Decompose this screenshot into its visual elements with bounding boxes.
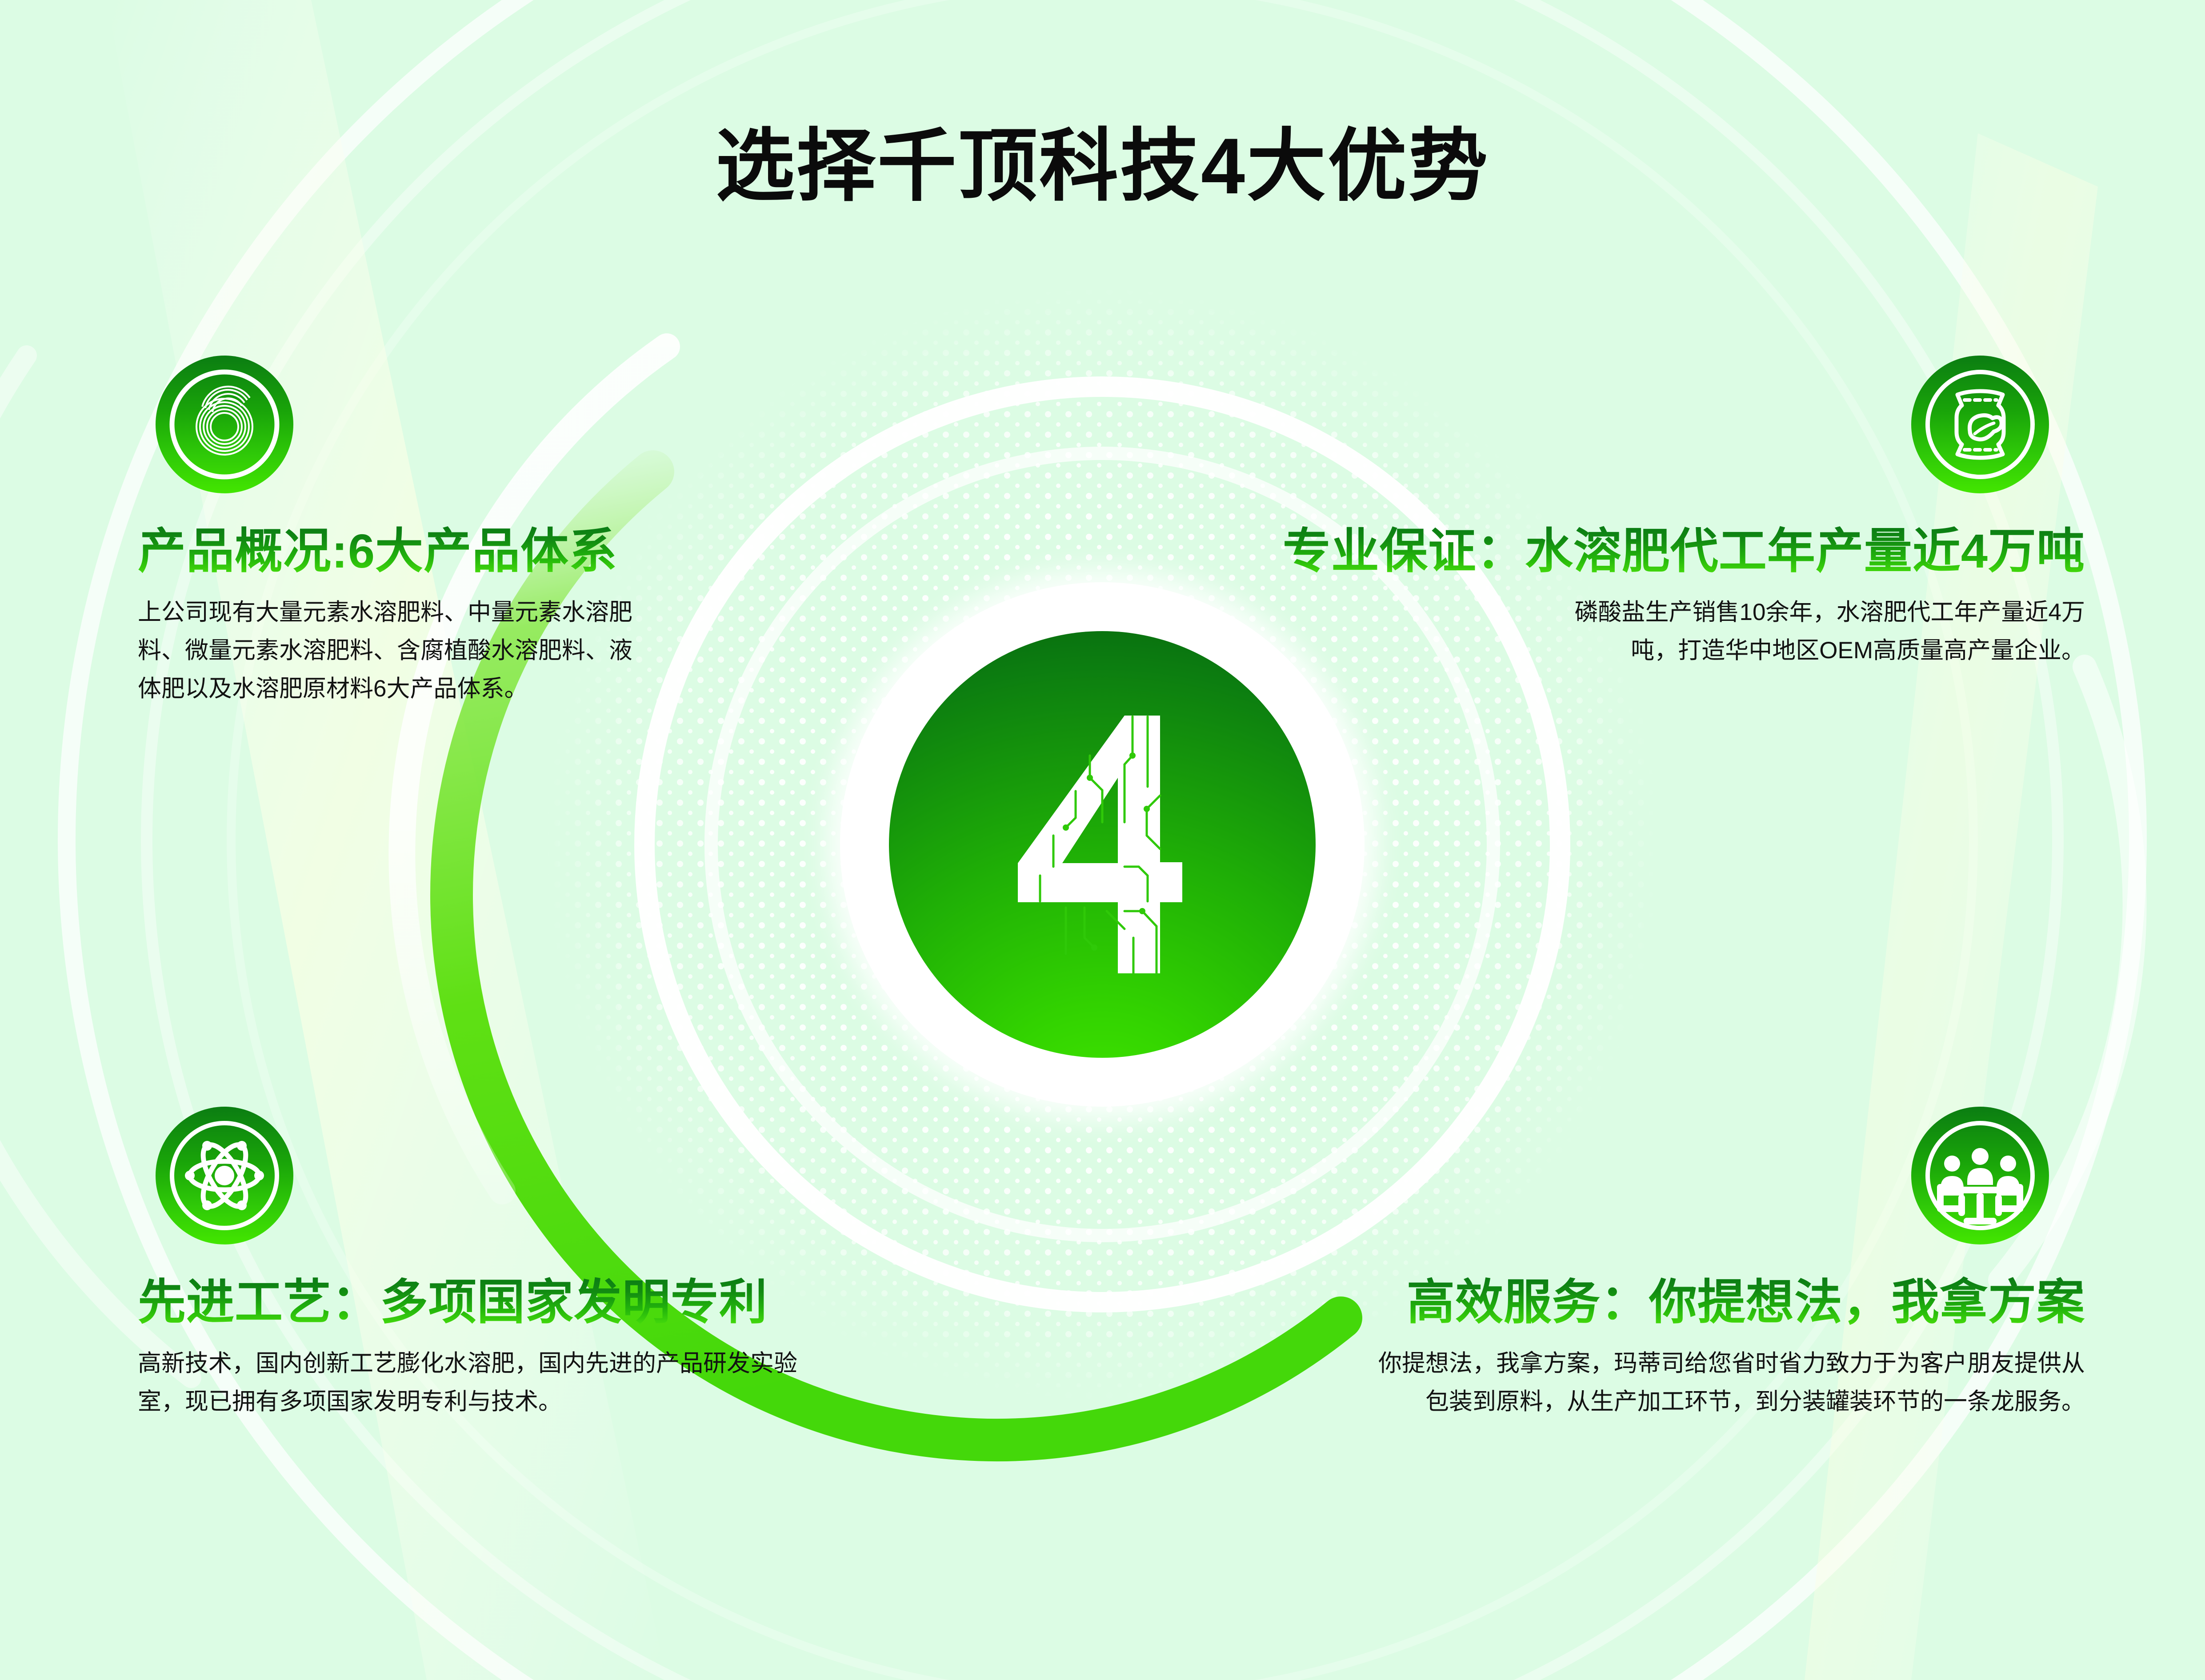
quadrant-efficient-service: 高效服务：你提想法，我拿方案 你提想法，我拿方案，玛蒂司给您省时省力致力于为客户… xyxy=(1241,1276,2085,1421)
heading-efficient-service: 高效服务：你提想法，我拿方案 xyxy=(1241,1276,2085,1329)
body-line: 体肥以及水溶肥原材料6大产品体系。 xyxy=(138,676,528,702)
badge-efficient-service xyxy=(1911,1107,2049,1244)
body-line: 室，现已拥有多项国家发明专利与技术。 xyxy=(138,1388,562,1415)
badge-product-overview xyxy=(156,356,293,493)
numeral-six-icon xyxy=(156,356,293,493)
body-line: 你提想法，我拿方案，玛蒂司给您省时省力致力于为客户朋友提供从 xyxy=(1378,1350,2085,1376)
infographic-canvas: 选择千顶科技4大优势 xyxy=(0,0,2205,1680)
body-product-overview: 上公司现有大量元素水溶肥料、中量元素水溶肥 料、微量元素水溶肥料、含腐植酸水溶肥… xyxy=(138,593,716,708)
circuit-four-icon xyxy=(991,689,1213,1000)
white-sweep-arc xyxy=(402,347,667,1191)
body-line: 包装到原料，从生产加工环节，到分装罐装环节的一条龙服务。 xyxy=(1425,1388,2085,1415)
heading-advanced-process: 先进工艺：多项国家发明专利 xyxy=(138,1276,938,1329)
body-line: 磷酸盐生产销售10余年，水溶肥代工年产量近4万 xyxy=(1575,599,2085,625)
body-professional-guarantee: 磷酸盐生产销售10余年，水溶肥代工年产量近4万 吨，打造华中地区OEM高质量高产… xyxy=(1143,593,2085,670)
atom-icon xyxy=(156,1107,293,1244)
body-efficient-service: 你提想法，我拿方案，玛蒂司给您省时省力致力于为客户朋友提供从 包装到原料，从生产… xyxy=(1241,1344,2085,1421)
body-advanced-process: 高新技术，国内创新工艺膨化水溶肥，国内先进的产品研发实验 室，现已拥有多项国家发… xyxy=(138,1344,938,1421)
quadrant-advanced-process: 先进工艺：多项国家发明专利 高新技术，国内创新工艺膨化水溶肥，国内先进的产品研发… xyxy=(138,1276,938,1421)
heading-product-overview: 产品概况:6大产品体系 xyxy=(138,524,716,578)
haze-band xyxy=(107,0,667,1680)
page-title: 选择千顶科技4大优势 xyxy=(0,102,2205,216)
body-line: 上公司现有大量元素水溶肥料、中量元素水溶肥 xyxy=(138,599,632,625)
meeting-team-icon xyxy=(1911,1107,2049,1244)
fertilizer-bag-icon xyxy=(1911,356,2049,493)
badge-professional-guarantee xyxy=(1911,356,2049,493)
body-line: 料、微量元素水溶肥料、含腐植酸水溶肥料、液 xyxy=(138,637,632,664)
quadrant-product-overview: 产品概况:6大产品体系 上公司现有大量元素水溶肥料、中量元素水溶肥 料、微量元素… xyxy=(138,524,716,708)
body-line: 吨，打造华中地区OEM高质量高产量企业。 xyxy=(1631,637,2085,664)
body-line: 高新技术，国内创新工艺膨化水溶肥，国内先进的产品研发实验 xyxy=(138,1350,797,1376)
heading-professional-guarantee: 专业保证：水溶肥代工年产量近4万吨 xyxy=(1143,524,2085,578)
badge-advanced-process xyxy=(156,1107,293,1244)
quadrant-professional-guarantee: 专业保证：水溶肥代工年产量近4万吨 磷酸盐生产销售10余年，水溶肥代工年产量近4… xyxy=(1143,524,2085,670)
